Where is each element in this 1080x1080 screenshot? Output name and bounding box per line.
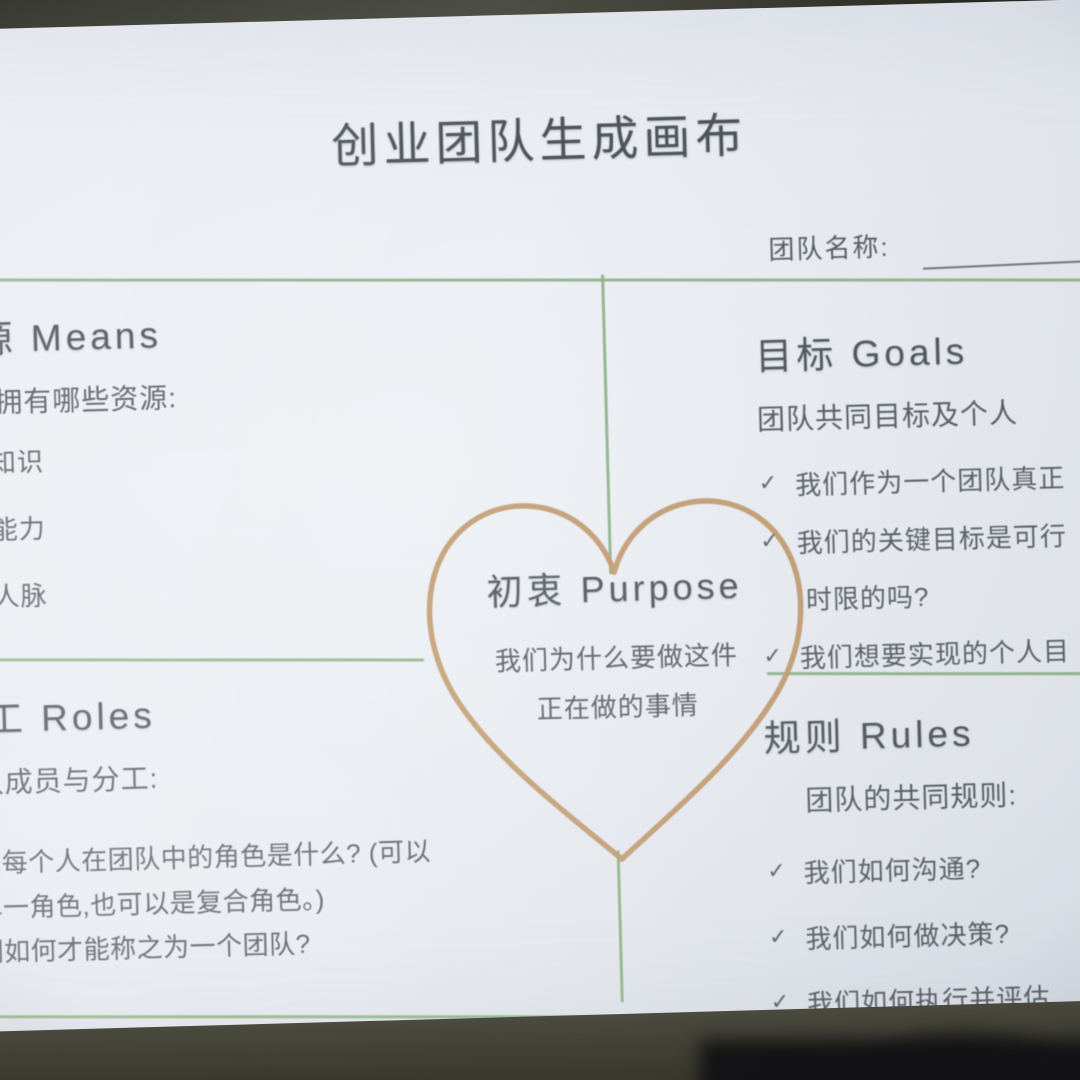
rules-check-text: 我们如何做决策?	[805, 915, 1010, 958]
goals-check-list: ✓ 我们作为一个团队真正 ✓ 我们的关键目标是可行 时限的吗? ✓ 我们想要实现…	[758, 460, 1070, 679]
means-item: 能力	[0, 505, 181, 547]
roles-body: 我们每个人在团队中的角色是什么? (可以 是单一角色,也可以是复合角色。) 我们…	[0, 829, 434, 976]
goals-check-text: 我们作为一个团队真正	[795, 460, 1066, 505]
goals-check-text: 我们想要实现的个人目	[799, 633, 1070, 678]
quadrant-means: 资源 Means 我们拥有哪些资源: 知识 能力 人脉	[0, 304, 184, 645]
means-item: 人脉	[0, 572, 183, 614]
check-icon: ✓	[769, 921, 788, 951]
quadrant-goals: 目标 Goals 团队共同目标及个人 ✓ 我们作为一个团队真正 ✓ 我们的关键目…	[755, 318, 1071, 699]
check-icon: ✓	[760, 526, 779, 556]
goals-check-item: ✓ 我们作为一个团队真正	[758, 460, 1065, 506]
means-item-list: 知识 能力 人脉	[0, 438, 183, 615]
means-heading: 资源 Means	[0, 304, 176, 364]
grid-line-middle-left	[0, 658, 424, 661]
rules-check-text: 我们如何沟通?	[803, 850, 981, 892]
rules-subtitle: 团队的共同规则:	[805, 773, 1045, 819]
projection-screen: 创业团队生成画布 团队名称: 初衷 Purpose 我们为什么要做这件 正在做的…	[0, 0, 1080, 1066]
goals-check-text: 时限的吗?	[805, 579, 929, 620]
goals-check-continuation: 时限的吗?	[805, 575, 1068, 620]
photo-of-projected-canvas: 创业团队生成画布 团队名称: 初衷 Purpose 我们为什么要做这件 正在做的…	[0, 0, 1080, 1080]
goals-check-item: ✓ 我们的关键目标是可行	[760, 518, 1067, 564]
goals-check-text: 我们的关键目标是可行	[796, 518, 1067, 563]
goals-check-item: ✓ 我们想要实现的个人目	[763, 633, 1070, 679]
grid-line-top-right	[601, 279, 1080, 282]
quadrant-roles: 分工 Roles 团队成员与分工: 我们每个人在团队中的角色是什么? (可以 是…	[0, 677, 434, 976]
team-name-blank-line	[923, 258, 1080, 269]
rules-check-item: ✓ 我们如何沟通?	[767, 849, 1047, 894]
roles-subtitle: 团队成员与分工:	[0, 749, 429, 802]
goals-heading: 目标 Goals	[755, 318, 1063, 380]
team-name-label: 团队名称:	[768, 227, 890, 267]
check-icon: ✓	[767, 856, 786, 886]
grid-line-top-left	[0, 279, 603, 282]
team-canvas: 创业团队生成画布 团队名称: 初衷 Purpose 我们为什么要做这件 正在做的…	[0, 0, 1080, 1066]
goals-subtitle: 团队共同目标及个人	[756, 390, 1063, 438]
rules-heading: 规则 Rules	[763, 701, 1044, 763]
roles-heading: 分工 Roles	[0, 677, 428, 744]
means-subtitle: 我们拥有哪些资源:	[0, 376, 178, 422]
check-icon: ✓	[763, 641, 782, 671]
check-icon: ✓	[758, 468, 777, 498]
page-title: 创业团队生成画布	[0, 85, 1080, 188]
rules-check-item: ✓ 我们如何做决策?	[769, 914, 1049, 959]
person-silhouette-shoulder	[700, 1040, 1080, 1080]
means-item: 知识	[0, 438, 179, 480]
